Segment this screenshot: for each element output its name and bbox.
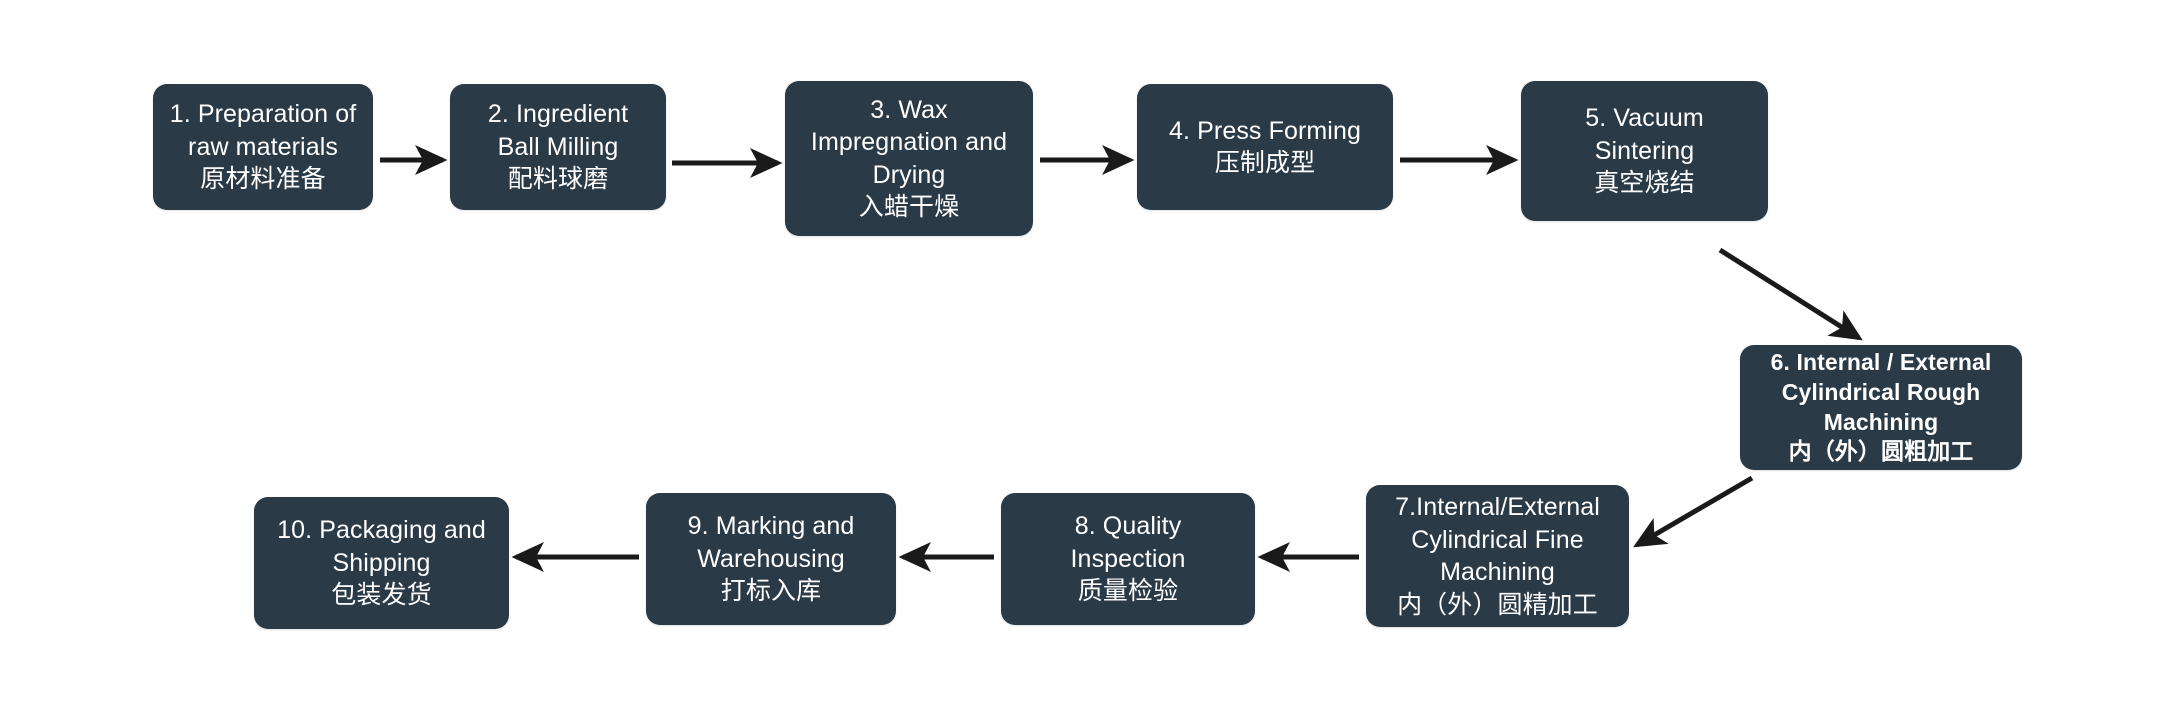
flow-node-label: 10. Packaging and Shipping 包装发货 (277, 514, 486, 612)
flow-node-step-4[interactable]: 4. Press Forming 压制成型 (1137, 84, 1393, 210)
flow-node-label: 9. Marking and Warehousing 打标入库 (688, 510, 855, 608)
flow-node-step-1[interactable]: 1. Preparation of raw materials 原材料准备 (153, 84, 373, 210)
flow-node-step-8[interactable]: 8. Quality Inspection 质量检验 (1001, 493, 1255, 625)
flow-node-label: 7.Internal/External Cylindrical Fine Mac… (1395, 491, 1600, 621)
flow-node-label: 5. Vacuum Sintering 真空烧结 (1585, 102, 1704, 200)
flow-node-step-10[interactable]: 10. Packaging and Shipping 包装发货 (254, 497, 509, 629)
flow-node-step-2[interactable]: 2. Ingredient Ball Milling 配料球磨 (450, 84, 666, 210)
flow-node-step-3[interactable]: 3. Wax Impregnation and Drying 入蜡干燥 (785, 81, 1033, 236)
flow-node-step-9[interactable]: 9. Marking and Warehousing 打标入库 (646, 493, 896, 625)
flow-node-label: 4. Press Forming 压制成型 (1169, 115, 1361, 180)
flow-node-step-6[interactable]: 6. Internal / External Cylindrical Rough… (1740, 345, 2022, 470)
flow-node-step-5[interactable]: 5. Vacuum Sintering 真空烧结 (1521, 81, 1768, 221)
flow-node-label: 2. Ingredient Ball Milling 配料球磨 (488, 98, 628, 196)
flow-node-label: 1. Preparation of raw materials 原材料准备 (170, 98, 357, 196)
arrow-edge-5-6 (1720, 250, 1859, 338)
flow-node-label: 8. Quality Inspection 质量检验 (1071, 510, 1186, 608)
arrow-edge-6-7 (1637, 478, 1752, 545)
flow-node-label: 6. Internal / External Cylindrical Rough… (1771, 348, 1992, 468)
flow-node-label: 3. Wax Impregnation and Drying 入蜡干燥 (811, 94, 1007, 224)
flowchart-canvas: 1. Preparation of raw materials 原材料准备2. … (0, 0, 2159, 722)
flow-node-step-7[interactable]: 7.Internal/External Cylindrical Fine Mac… (1366, 485, 1629, 627)
